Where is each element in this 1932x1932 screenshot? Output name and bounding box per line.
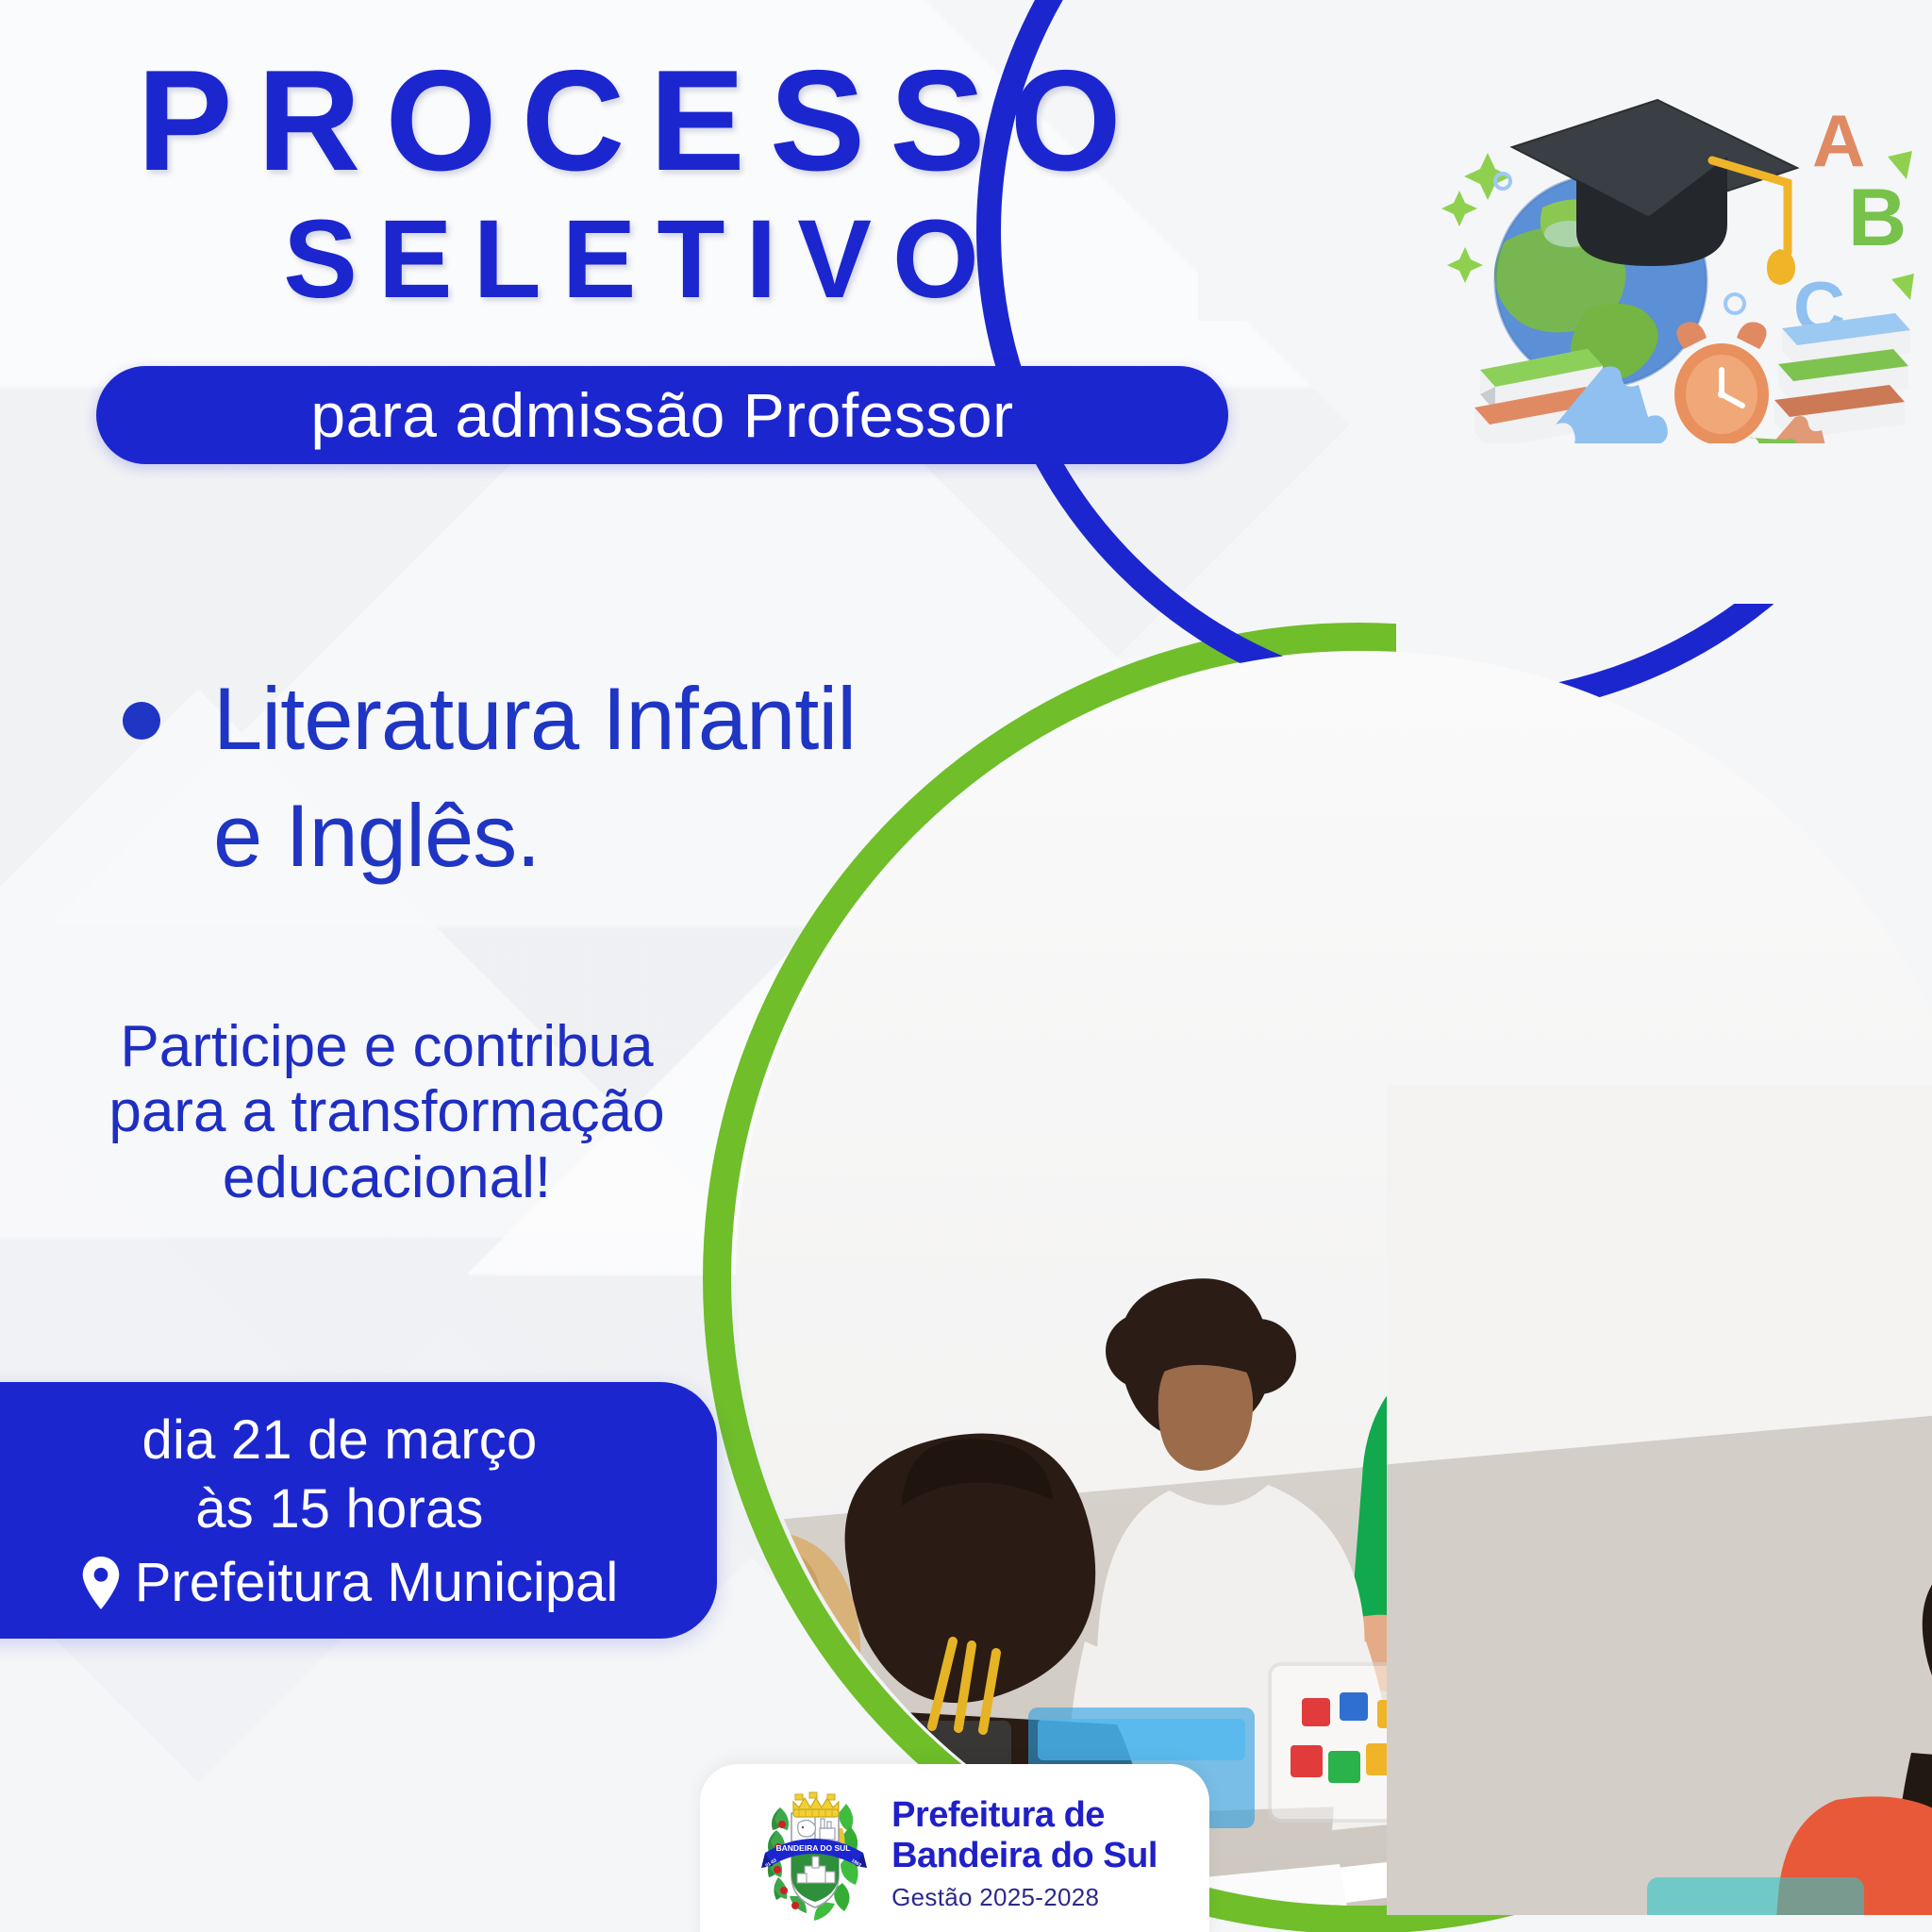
- classroom-photo-bleed: [1387, 1085, 1932, 1932]
- crown-icon: [793, 1792, 839, 1817]
- page-title: PROCESSO SELETIVO: [0, 49, 1283, 319]
- event-date: dia 21 de março: [142, 1407, 538, 1475]
- headline-line-1: PROCESSO: [0, 49, 1283, 192]
- event-location: Prefeitura Municipal: [135, 1551, 619, 1614]
- crest-ribbon-text: BANDEIRA DO SUL: [776, 1843, 851, 1853]
- map-pin-icon: [80, 1557, 122, 1609]
- letter-a: A: [1812, 99, 1865, 182]
- alarm-clock-icon: [1674, 322, 1769, 443]
- call-to-action-text: Participe e contribua para a transformaç…: [94, 1014, 679, 1210]
- footer-org-line-2: Bandeira do Sul: [891, 1836, 1158, 1876]
- subtitle-badge-label: para admissão Professor: [310, 379, 1013, 451]
- coat-of-arms-icon: BANDEIRA DO SUL 01-03 1963: [752, 1783, 874, 1924]
- poster-canvas: PROCESSO SELETIVO para admissão Professo…: [0, 0, 1932, 1932]
- footer-org-text: Prefeitura de Bandeira do Sul Gestão 202…: [891, 1795, 1158, 1911]
- headline-line-2: SELETIVO: [0, 202, 1283, 319]
- bullet-dot-icon: [123, 702, 160, 740]
- footer-org-line-1: Prefeitura de: [891, 1795, 1105, 1836]
- footer-term: Gestão 2025-2028: [891, 1883, 1099, 1912]
- event-details-box: dia 21 de março às 15 horas Prefeitura M…: [0, 1382, 717, 1639]
- event-time: às 15 horas: [195, 1475, 483, 1544]
- letter-b: B: [1848, 173, 1907, 263]
- event-location-row: Prefeitura Municipal: [61, 1551, 619, 1614]
- education-3d-illustration: A B C: [1401, 66, 1929, 443]
- subtitle-badge: para admissão Professor: [96, 366, 1228, 464]
- footer-logo-card: BANDEIRA DO SUL 01-03 1963: [700, 1764, 1209, 1932]
